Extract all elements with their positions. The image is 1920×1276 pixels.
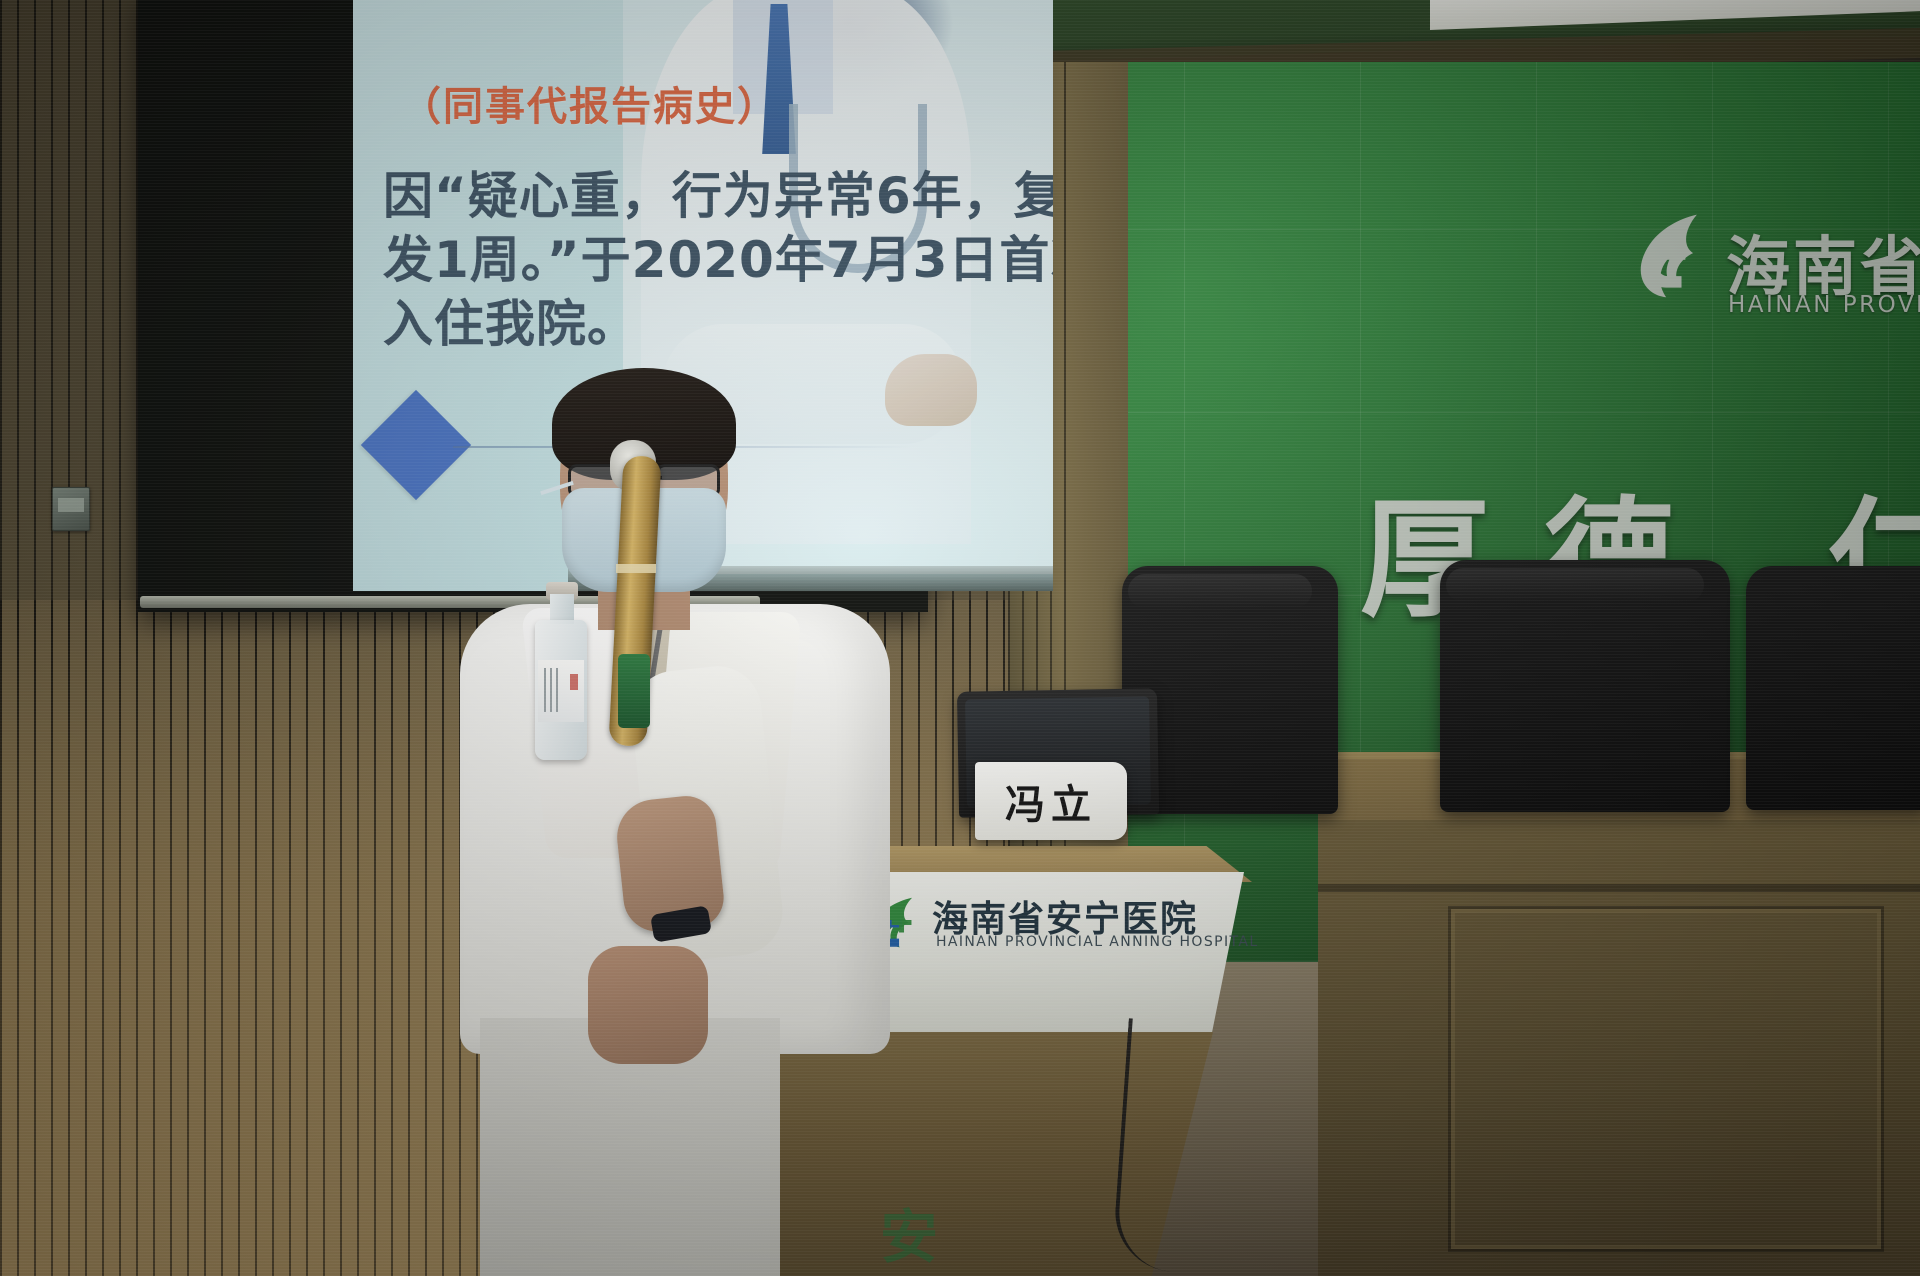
chair-highlight xyxy=(1128,574,1312,608)
slide-body-line-2: 发1周。”于2020年7月3日首次 xyxy=(383,228,1003,292)
speaker-person xyxy=(470,368,900,1276)
podium-hospital-logo: 海南省安宁医院 HAINAN PROVINCIAL ANNING HOSPITA… xyxy=(858,890,1198,964)
microphone-band xyxy=(616,564,656,573)
slide-body: 因“疑心重，行为异常6年，复 发1周。”于2020年7月3日首次 入住我院。 xyxy=(383,164,1003,356)
bottle-label xyxy=(538,660,584,722)
slide-body-line-3: 入住我院。 xyxy=(383,292,1003,356)
label-line xyxy=(550,668,552,712)
slide-bullet-diamond-icon xyxy=(361,390,471,500)
wall-hospital-logo: 海南省 HAINAN PROVIN xyxy=(1622,196,1920,326)
speaker-name: 冯立 xyxy=(1005,772,1097,830)
bottle-label-accent xyxy=(570,674,578,690)
rostrum-desk-panel xyxy=(1448,906,1884,1252)
photo-scene: 海南省 HAINAN PROVIN 厚德 仁爱 （同事代报告病史） xyxy=(0,0,1920,1276)
office-chair-right xyxy=(1440,560,1730,812)
rostrum-desk-edge xyxy=(1318,884,1920,892)
microphone-grip-label xyxy=(618,654,650,728)
slide-title: （同事代报告病史） xyxy=(401,74,779,132)
slide-body-line-1: 因“疑心重，行为异常6年，复 xyxy=(383,164,1003,228)
label-line xyxy=(556,668,558,712)
speaker-nameplate: 冯立 xyxy=(975,762,1127,840)
wall-outlet-panel xyxy=(52,487,90,531)
chair-highlight xyxy=(1446,568,1704,602)
label-line xyxy=(544,668,546,712)
anning-leaf-icon xyxy=(1622,206,1718,304)
office-chair-far-right xyxy=(1746,566,1920,810)
podium-brand-en: HAINAN PROVINCIAL ANNING HOSPITAL xyxy=(936,934,1259,950)
wall-brand-en: HAINAN PROVIN xyxy=(1728,292,1920,318)
lower-hand xyxy=(588,946,708,1064)
